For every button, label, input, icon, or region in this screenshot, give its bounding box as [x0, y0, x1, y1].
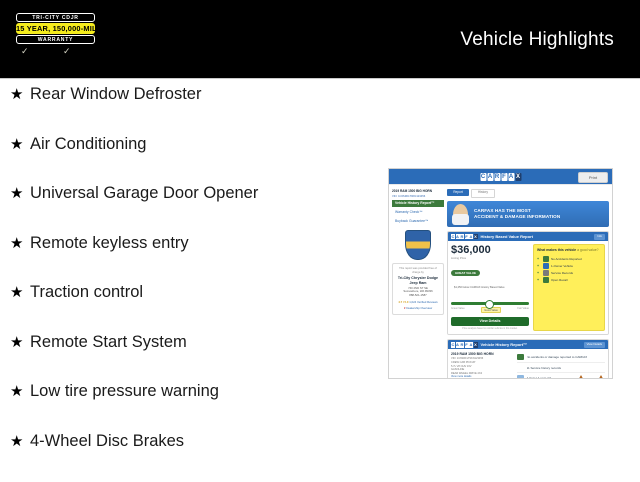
slider-label-fair: Fair Value	[517, 307, 529, 313]
history-check-label: No accidents or damage reported to CARFA…	[527, 355, 588, 359]
carfax-logo-letter: A	[469, 234, 473, 240]
good-value-item-label: No Accidents Reported	[551, 257, 582, 261]
sidebar-item-warranty-check[interactable]: Warranty Check™	[392, 209, 444, 216]
fox-head	[577, 378, 604, 379]
history-check-label: 2-Year / 1 year old	[527, 376, 551, 379]
print-button[interactable]: Print	[578, 172, 608, 183]
carfax-logo-letter: C	[480, 173, 486, 181]
plus-icon: +	[537, 264, 541, 268]
list-item: ★ Low tire pressure warning	[0, 383, 380, 433]
list-item: 11 Service history records	[517, 363, 605, 374]
history-panel-details-button[interactable]: View Details	[584, 342, 605, 348]
check-icon: ✓	[63, 46, 71, 56]
carfax-logo-letter: F	[501, 173, 507, 181]
good-value-item-label: 1-Owner Vehicle	[551, 264, 573, 268]
value-slider[interactable]	[451, 302, 529, 305]
carfax-report-image[interactable]: C A R F A X Print 2019 RAM 1500 BIG HORN…	[388, 168, 613, 379]
star-bullet-icon: ★	[10, 434, 30, 449]
carfax-sidebar: 2019 RAM 1500 BIG HORN VIN: 1C6SRFLT9KN1…	[392, 189, 444, 379]
carfax-body: 2019 RAM 1500 BIG HORN VIN: 1C6SRFLT9KN1…	[389, 185, 612, 379]
feature-label: Remote Start System	[30, 334, 187, 351]
value-price-block: $36,000 Listing Price GREAT VALUE $1,250…	[451, 244, 529, 331]
carfax-logo-icon: C A R F A X	[480, 173, 521, 181]
feature-label: Traction control	[30, 284, 143, 301]
sidebar-vin: VIN: 1C6SRFLT9KN123456	[392, 194, 444, 199]
star-bullet-icon: ★	[10, 285, 30, 300]
list-item: ★ 4-Wheel Disc Brakes	[0, 433, 380, 482]
carfax-logo-letter: R	[494, 173, 500, 181]
list-item: ★ Remote Start System	[0, 334, 380, 384]
plus-icon: +	[537, 257, 541, 261]
dealer-rating-value: 4.7 / 5.0	[398, 300, 408, 304]
list-item: ★ Rear Window Defroster	[0, 86, 380, 136]
fox-ear-left	[576, 375, 586, 379]
page-title: Vehicle Highlights	[460, 29, 614, 51]
history-panel-header: C A R F A X Vehicle History Report™ View…	[448, 340, 608, 349]
dealer-reviews-link[interactable]: 1,024 Verified Reviews	[409, 300, 437, 304]
carfax-logo-letter: A	[456, 234, 460, 240]
carfax-topbar: C A R F A X Print	[389, 169, 612, 185]
no-accidents-icon	[517, 354, 524, 361]
good-value-title-emphasis: a good value?	[577, 248, 598, 252]
good-value-title-main: What makes this vehicle	[537, 248, 576, 252]
carfax-fox-mascot-icon: CARFAX	[574, 376, 608, 379]
feature-label: Universal Garage Door Opener	[30, 185, 258, 202]
value-panel-body: $36,000 Listing Price GREAT VALUE $1,250…	[448, 241, 608, 334]
dealer-name: Tri-City Chrysler Dodge Jeep Ram	[395, 276, 441, 286]
list-item: ★ Remote keyless entry	[0, 235, 380, 285]
carfax-logo-letter: F	[465, 342, 469, 348]
tab-report[interactable]: Report	[447, 189, 469, 196]
history-panel-body: 2019 RAM 1500 BIG HORN VIN: 1C6SRFLT9KN1…	[448, 349, 608, 379]
carfax-logo-letter: X	[474, 234, 478, 240]
star-bullet-icon: ★	[10, 335, 30, 350]
history-check-label: 11 Service history records	[527, 366, 561, 370]
slider-label-great: Great Value	[451, 307, 465, 313]
fox-ear-right	[596, 375, 606, 379]
feature-label: Remote keyless entry	[30, 235, 189, 252]
carfax-logo-letter: A	[508, 173, 514, 181]
star-bullet-icon: ★	[10, 137, 30, 152]
list-item: ★ Air Conditioning	[0, 136, 380, 186]
value-badge-note: $1,250 below CARFAX History Based Value	[454, 286, 505, 289]
star-bullet-icon: ★	[10, 87, 30, 102]
dealer-rating: 4.7 / 5.0 1,024 Verified Reviews	[395, 300, 441, 304]
listing-price: $36,000	[451, 244, 529, 256]
vehicle-history-report-panel: C A R F A X Vehicle History Report™ View…	[447, 339, 609, 379]
person-illustration-icon	[453, 204, 468, 225]
history-based-value-panel: C A R F A X History Based Value Report I…	[447, 231, 609, 335]
feature-label: Rear Window Defroster	[30, 86, 201, 103]
promo-banner-text: CARFAX HAS THE MOST ACCIDENT & DAMAGE IN…	[474, 208, 560, 220]
warranty-badge: TRI-CITY CDJR 15 YEAR, 150,000-MILE WARR…	[16, 13, 95, 58]
list-item: ★ Traction control	[0, 284, 380, 334]
dealer-card-intro: This report was provided free of charge …	[395, 267, 441, 274]
value-panel-title: History Based Value Report	[481, 234, 533, 239]
wrench-icon	[517, 364, 524, 371]
feature-label: Low tire pressure warning	[30, 383, 219, 400]
dealer-overview-link[interactable]: Dealership Overview	[406, 306, 432, 310]
history-panel-title: Vehicle History Report™	[481, 342, 528, 347]
header-divider	[0, 78, 640, 79]
history-checks-list: No accidents or damage reported to CARFA…	[517, 352, 605, 379]
carfax-logo-letter: X	[474, 342, 478, 348]
list-item: + No Accidents Reported	[537, 255, 601, 262]
one-owner-icon	[543, 263, 549, 269]
good-value-item-label: Service Records	[551, 271, 573, 275]
value-panel-info-button[interactable]: Info	[594, 234, 605, 240]
carfax-logo-letter: R	[460, 342, 464, 348]
good-value-item-label: Open Recall	[551, 278, 568, 282]
warranty-badge-label: WARRANTY	[16, 35, 95, 44]
carfax-logo-letter: C	[451, 342, 455, 348]
carfax-logo-letter: A	[487, 173, 493, 181]
carfax-logo-icon: C A R F A X	[451, 234, 478, 240]
carfax-logo-letter: R	[460, 234, 464, 240]
vin-label: VIN:	[392, 195, 397, 198]
dealer-phone: 888-521-1587	[395, 294, 441, 298]
check-icon: ✓	[21, 46, 29, 56]
history-vehicle-details: 2019 RAM 1500 BIG HORN VIN: 1C6SRFLT9KN1…	[451, 352, 513, 379]
carfax-main-column: Report History CARFAX HAS THE MOST ACCID…	[447, 189, 609, 379]
list-item: No accidents or damage reported to CARFA…	[517, 352, 605, 363]
history-more-details-link[interactable]: View more details	[451, 375, 513, 379]
plus-icon: +	[537, 278, 541, 282]
carfax-logo-letter: X	[515, 173, 521, 181]
sidebar-vehicle-title: 2019 RAM 1500 BIG HORN	[392, 189, 444, 193]
service-records-icon	[543, 270, 549, 276]
value-badge: GREAT VALUE	[451, 270, 480, 276]
open-recall-icon	[543, 277, 549, 283]
dealer-card: This report was provided free of charge …	[392, 263, 444, 314]
carfax-logo-letter: C	[451, 234, 455, 240]
promo-banner: CARFAX HAS THE MOST ACCIDENT & DAMAGE IN…	[447, 201, 609, 227]
carfax-tabs: Report History	[447, 189, 609, 198]
warranty-badge-checkmarks: ✓ ✓	[16, 46, 95, 58]
tab-history[interactable]: History	[471, 189, 495, 198]
feature-label: 4-Wheel Disc Brakes	[30, 433, 184, 450]
star-bullet-icon: ★	[10, 236, 30, 251]
sidebar-item-buyback-guarantee[interactable]: Buyback Guarantee™	[392, 218, 444, 225]
list-item: ★ Universal Garage Door Opener	[0, 185, 380, 235]
carfax-logo-letter: F	[465, 234, 469, 240]
calendar-icon	[517, 375, 524, 379]
no-accidents-icon	[543, 256, 549, 262]
vin-value: 1C6SRFLT9KN123456	[398, 195, 425, 198]
list-item: + Open Recall	[537, 276, 601, 283]
carfax-logo-icon: C A R F A X	[451, 342, 478, 348]
dealer-overview: ♥ Dealership Overview	[395, 306, 441, 310]
buyback-shield-icon	[405, 230, 431, 260]
star-bullet-icon: ★	[10, 384, 30, 399]
plus-icon: +	[537, 271, 541, 275]
view-details-button[interactable]: View Details	[451, 317, 529, 326]
good-value-callout: What makes this vehicle a good value? + …	[533, 244, 605, 331]
promo-line-2: ACCIDENT & DAMAGE INFORMATION	[474, 214, 560, 220]
star-bullet-icon: ★	[10, 186, 30, 201]
value-fineprint: Price analysis based on similar vehicles…	[451, 328, 529, 331]
list-item: + 1-Owner Vehicle	[537, 262, 601, 269]
vehicle-features-list: ★ Rear Window Defroster ★ Air Conditioni…	[0, 86, 380, 482]
carfax-logo-letter: A	[469, 342, 473, 348]
sidebar-item-vehicle-history-report[interactable]: Vehicle History Report™	[392, 200, 444, 207]
feature-label: Air Conditioning	[30, 136, 146, 153]
page-header: TRI-CITY CDJR 15 YEAR, 150,000-MILE WARR…	[0, 0, 640, 78]
warranty-badge-dealer: TRI-CITY CDJR	[16, 13, 95, 22]
warranty-badge-term: 15 YEAR, 150,000-MILE	[16, 23, 95, 34]
carfax-logo-letter: A	[456, 342, 460, 348]
good-value-title: What makes this vehicle a good value?	[537, 248, 601, 253]
value-panel-header: C A R F A X History Based Value Report I…	[448, 232, 608, 241]
list-item: + Service Records	[537, 269, 601, 276]
